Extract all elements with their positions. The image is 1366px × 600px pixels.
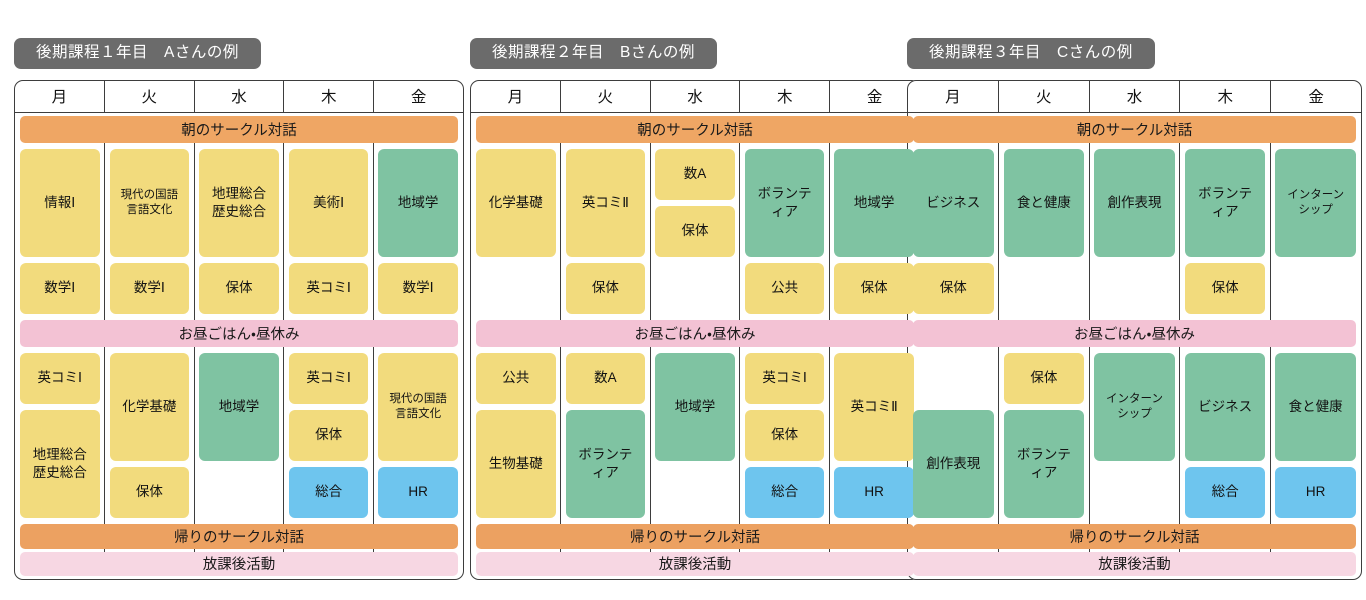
class-label: 保体 [771,426,798,444]
class-label: 保体 [681,222,708,240]
class-block[interactable]: 数学Ⅰ [20,263,100,314]
timetable-frame: 月火水木金朝のサークル対話ビジネス保体食と健康創作表現ボランティア保体インターン… [907,80,1362,580]
class-label: 創作表現 [1107,194,1161,212]
class-block[interactable]: 数A [566,353,646,404]
class-label: 地域学 [219,398,260,416]
class-label: 食と健康 [1289,398,1343,416]
class-label: 数A [594,369,617,387]
day-column-tue: 英コミⅡ保体 [561,146,651,317]
class-label: 公共 [502,369,529,387]
class-label: 数学Ⅰ [403,279,434,297]
class-label: 現代の国語言語文化 [389,392,447,421]
class-label: 情報Ⅰ [44,194,75,212]
day-column-wed: 地理総合歴史総合保体 [194,146,284,317]
day-column-wed: インターンシップ [1089,350,1180,521]
day-column-tue: 現代の国語言語文化数学Ⅰ [105,146,195,317]
class-label: 創作表現 [926,455,980,473]
morning-circle-banner: 朝のサークル対話 [476,116,914,143]
day-column-thu: ビジネス総合 [1180,350,1271,521]
day-header-mon: 月 [15,81,105,112]
class-label: 保体 [1212,279,1239,297]
morning-slots: ビジネス保体食と健康創作表現ボランティア保体インターンシップ [908,146,1361,317]
class-label: 英コミⅠ [762,369,806,387]
class-block[interactable]: 保体 [110,467,190,518]
day-header-tue: 火 [561,81,651,112]
class-label: 保体 [861,279,888,297]
after-school-banner: 放課後活動 [476,552,914,576]
class-label: 現代の国語言語文化 [121,188,179,217]
day-column-thu: 英コミⅠ保体総合 [284,350,374,521]
lunch-break-banner: お昼ごはん・昼休み [913,320,1356,347]
class-block[interactable]: 情報Ⅰ [20,149,100,257]
day-column-fri: 英コミⅡHR [829,350,919,521]
class-block[interactable]: 保体 [834,263,914,314]
class-label: 地域学 [854,194,895,212]
class-label: 英コミⅡ [582,194,629,212]
day-header-thu: 木 [1180,81,1271,112]
class-label: ボランティア [1017,446,1071,482]
day-header-wed: 水 [195,81,285,112]
class-label: ボランティア [758,185,812,221]
class-label: 数学Ⅰ [134,279,165,297]
class-block[interactable]: 美術Ⅰ [289,149,369,257]
class-block[interactable]: 保体 [566,263,646,314]
day-column-mon: ビジネス保体 [908,146,999,317]
class-block[interactable]: 地域学 [199,353,279,461]
class-block[interactable]: 地域学 [834,149,914,257]
day-column-thu: ボランティア保体 [1180,146,1271,317]
class-block[interactable]: 保体 [289,410,369,461]
day-column-tue: 化学基礎保体 [105,350,195,521]
day-column-mon: 公共生物基礎 [471,350,561,521]
class-block[interactable]: インターンシップ [1094,353,1175,461]
class-block[interactable]: 総合 [1185,467,1266,518]
class-block[interactable]: 英コミⅡ [834,353,914,461]
day-header-fri: 金 [830,81,919,112]
timetable-2: 後期課程２年目 Bさんの例月火水木金朝のサークル対話化学基礎英コミⅡ保体数A保体… [470,38,920,580]
after-school-banner: 放課後活動 [913,552,1356,576]
class-block[interactable]: 英コミⅠ [745,353,825,404]
class-label: 化学基礎 [122,398,176,416]
afternoon-slots: 創作表現保体ボランティアインターンシップビジネス総合食と健康HR [908,350,1361,521]
lunch-break-banner: お昼ごはん・昼休み [476,320,914,347]
day-column-fri: 地域学数学Ⅰ [373,146,463,317]
timetable-3: 後期課程３年目 Cさんの例月火水木金朝のサークル対話ビジネス保体食と健康創作表現… [907,38,1362,580]
class-block[interactable]: 英コミⅠ [289,353,369,404]
class-block[interactable]: 現代の国語言語文化 [378,353,458,461]
day-column-fri: 地域学保体 [829,146,919,317]
timetable-1: 後期課程１年目 Aさんの例月火水木金朝のサークル対話情報Ⅰ数学Ⅰ現代の国語言語文… [14,38,464,580]
day-header-row: 月火水木金 [471,81,919,113]
day-column-mon: 英コミⅠ地理総合歴史総合 [15,350,105,521]
day-header-thu: 木 [284,81,374,112]
day-column-fri: 現代の国語言語文化HR [373,350,463,521]
timetable-body: 朝のサークル対話ビジネス保体食と健康創作表現ボランティア保体インターンシップお昼… [908,116,1361,576]
day-header-wed: 水 [1090,81,1181,112]
closing-circle-banner: 帰りのサークル対話 [20,524,458,549]
class-block[interactable]: 地域学 [378,149,458,257]
day-header-row: 月火水木金 [15,81,463,113]
morning-slots: 情報Ⅰ数学Ⅰ現代の国語言語文化数学Ⅰ地理総合歴史総合保体美術Ⅰ英コミⅠ地域学数学… [15,146,463,317]
timetable-frame: 月火水木金朝のサークル対話化学基礎英コミⅡ保体数A保体ボランティア公共地域学保体… [470,80,920,580]
class-label: インターンシップ [1287,188,1344,217]
class-block[interactable]: 生物基礎 [476,410,556,518]
class-block[interactable]: 公共 [476,353,556,404]
day-column-tue: 食と健康 [999,146,1090,317]
class-block[interactable]: インターンシップ [1275,149,1356,257]
class-label: 英コミⅠ [306,369,350,387]
class-label: 食と健康 [1017,194,1071,212]
class-block[interactable]: ボランティア [566,410,646,518]
day-column-wed: 地域学 [650,350,740,521]
class-block[interactable]: ビジネス [1185,353,1266,461]
class-label: 地理総合歴史総合 [33,446,87,482]
class-block[interactable]: 化学基礎 [476,149,556,257]
class-label: 美術Ⅰ [313,194,344,212]
day-column-mon: 情報Ⅰ数学Ⅰ [15,146,105,317]
class-block[interactable]: 数学Ⅰ [110,263,190,314]
class-block[interactable]: HR [834,467,914,518]
timetable-inner: 月火水木金朝のサークル対話化学基礎英コミⅡ保体数A保体ボランティア公共地域学保体… [471,81,919,576]
class-block[interactable]: HR [1275,467,1356,518]
morning-slots: 化学基礎英コミⅡ保体数A保体ボランティア公共地域学保体 [471,146,919,317]
class-block[interactable]: 食と健康 [1004,149,1085,257]
class-label: 総合 [771,483,798,501]
timetable-inner: 月火水木金朝のサークル対話ビジネス保体食と健康創作表現ボランティア保体インターン… [908,81,1361,576]
day-column-mon: 創作表現 [908,350,999,521]
class-label: 保体 [136,483,163,501]
class-label: 地域学 [398,194,439,212]
class-label: 英コミⅡ [851,398,898,416]
class-label: HR [864,483,884,501]
timetable-board: 後期課程１年目 Aさんの例月火水木金朝のサークル対話情報Ⅰ数学Ⅰ現代の国語言語文… [0,0,1366,600]
day-header-fri: 金 [1271,81,1361,112]
class-label: 地域学 [675,398,716,416]
day-column-wed: 地域学 [194,350,284,521]
class-label: HR [1306,483,1326,501]
day-column-thu: 英コミⅠ保体総合 [740,350,830,521]
class-block[interactable]: 保体 [655,206,735,257]
class-block[interactable]: ボランティア [1185,149,1266,257]
day-column-mon: 化学基礎 [471,146,561,317]
class-block[interactable]: 保体 [913,263,994,314]
day-header-thu: 木 [740,81,830,112]
day-column-fri: インターンシップ [1270,146,1361,317]
class-block[interactable]: 化学基礎 [110,353,190,461]
closing-circle-banner: 帰りのサークル対話 [476,524,914,549]
class-block[interactable]: HR [378,467,458,518]
class-label: 保体 [315,426,342,444]
class-label: ビジネス [926,194,980,212]
afternoon-slots: 英コミⅠ地理総合歴史総合化学基礎保体地域学英コミⅠ保体総合現代の国語言語文化HR [15,350,463,521]
class-block[interactable]: 保体 [745,410,825,461]
closing-circle-banner: 帰りのサークル対話 [913,524,1356,549]
day-header-mon: 月 [471,81,561,112]
class-block[interactable]: 英コミⅠ [20,353,100,404]
morning-circle-banner: 朝のサークル対話 [20,116,458,143]
class-block[interactable]: 保体 [199,263,279,314]
day-column-fri: 食と健康HR [1270,350,1361,521]
class-label: HR [408,483,428,501]
day-column-tue: 数Aボランティア [561,350,651,521]
class-label: 保体 [225,279,252,297]
timetable-body: 朝のサークル対話情報Ⅰ数学Ⅰ現代の国語言語文化数学Ⅰ地理総合歴史総合保体美術Ⅰ英… [15,116,463,576]
class-label: 地理総合歴史総合 [212,185,266,221]
day-header-fri: 金 [374,81,463,112]
class-label: インターンシップ [1106,392,1163,421]
lunch-break-banner: お昼ごはん・昼休み [20,320,458,347]
timetable-title: 後期課程３年目 Cさんの例 [907,38,1155,69]
class-block[interactable]: 創作表現 [913,410,994,518]
class-block[interactable]: 総合 [289,467,369,518]
class-label: 公共 [771,279,798,297]
morning-circle-banner: 朝のサークル対話 [913,116,1356,143]
class-block[interactable]: 現代の国語言語文化 [110,149,190,257]
timetable-inner: 月火水木金朝のサークル対話情報Ⅰ数学Ⅰ現代の国語言語文化数学Ⅰ地理総合歴史総合保… [15,81,463,576]
day-header-mon: 月 [908,81,999,112]
class-label: 英コミⅠ [306,279,350,297]
class-label: 総合 [1212,483,1239,501]
class-block[interactable]: 数A [655,149,735,200]
day-header-row: 月火水木金 [908,81,1361,113]
class-block[interactable]: 創作表現 [1094,149,1175,257]
after-school-banner: 放課後活動 [20,552,458,576]
class-block[interactable]: ボランティア [1004,410,1085,518]
class-label: 数A [684,165,707,183]
day-column-wed: 数A保体 [650,146,740,317]
day-column-thu: 美術Ⅰ英コミⅠ [284,146,374,317]
class-label: ビジネス [1198,398,1252,416]
class-label: 数学Ⅰ [44,279,75,297]
class-label: 保体 [1030,369,1057,387]
class-label: 生物基礎 [489,455,543,473]
day-header-tue: 火 [105,81,195,112]
timetable-body: 朝のサークル対話化学基礎英コミⅡ保体数A保体ボランティア公共地域学保体お昼ごはん… [471,116,919,576]
class-block[interactable]: 食と健康 [1275,353,1356,461]
class-block[interactable]: 保体 [1004,353,1085,404]
class-block[interactable]: 地理総合歴史総合 [199,149,279,257]
class-block[interactable]: 総合 [745,467,825,518]
class-block[interactable]: 数学Ⅰ [378,263,458,314]
class-block[interactable]: ボランティア [745,149,825,257]
day-header-wed: 水 [651,81,741,112]
class-label: ボランティア [1198,185,1252,221]
class-label: 英コミⅠ [38,369,82,387]
day-column-wed: 創作表現 [1089,146,1180,317]
class-block[interactable]: 地理総合歴史総合 [20,410,100,518]
class-block[interactable]: 英コミⅠ [289,263,369,314]
day-column-thu: ボランティア公共 [740,146,830,317]
class-block[interactable]: ビジネス [913,149,994,257]
class-label: 保体 [592,279,619,297]
class-label: ボランティア [578,446,632,482]
day-column-tue: 保体ボランティア [999,350,1090,521]
timetable-frame: 月火水木金朝のサークル対話情報Ⅰ数学Ⅰ現代の国語言語文化数学Ⅰ地理総合歴史総合保… [14,80,464,580]
class-block[interactable]: 保体 [1185,263,1266,314]
timetable-title: 後期課程１年目 Aさんの例 [14,38,261,69]
timetable-title: 後期課程２年目 Bさんの例 [470,38,717,69]
class-label: 総合 [315,483,342,501]
class-block[interactable]: 地域学 [655,353,735,461]
class-block[interactable]: 公共 [745,263,825,314]
day-header-tue: 火 [999,81,1090,112]
afternoon-slots: 公共生物基礎数Aボランティア地域学英コミⅠ保体総合英コミⅡHR [471,350,919,521]
class-label: 化学基礎 [489,194,543,212]
class-label: 保体 [940,279,967,297]
class-block[interactable]: 英コミⅡ [566,149,646,257]
